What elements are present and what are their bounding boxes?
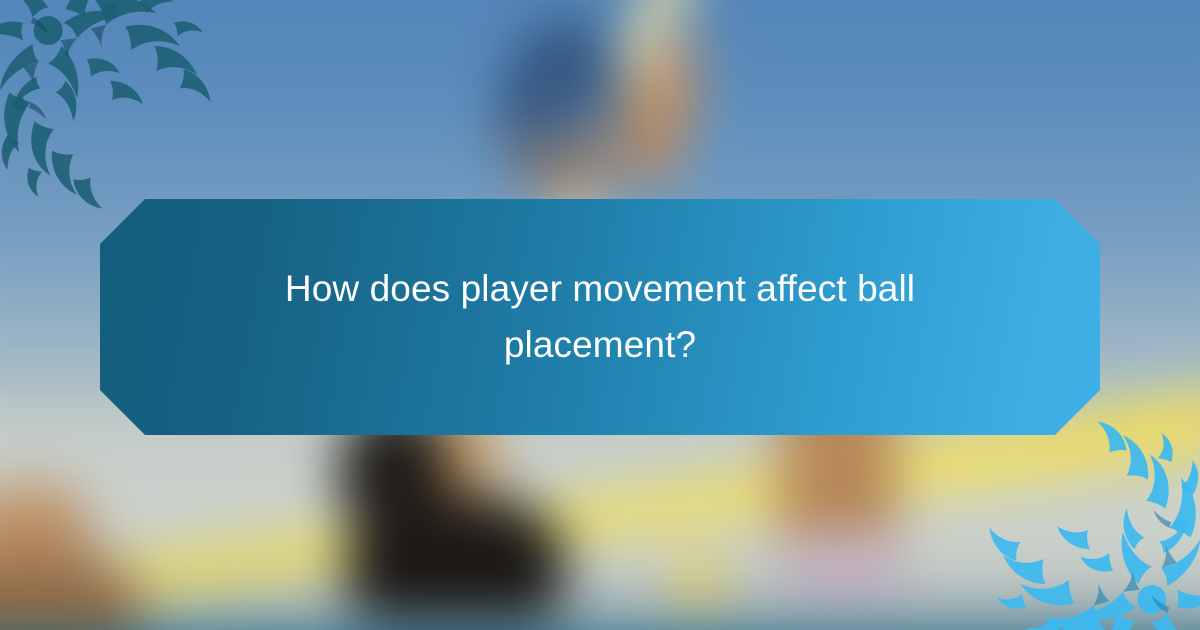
question-banner: How does player movement affect ball pla… [100, 199, 1100, 435]
question-title: How does player movement affect ball pla… [210, 261, 990, 373]
player-center-body [348, 496, 564, 616]
player-jumping-head [538, 68, 620, 146]
volleyball [670, 556, 728, 604]
player-left-body [0, 556, 140, 630]
share-card: How does player movement affect ball pla… [0, 0, 1200, 630]
player-right-shorts [782, 530, 906, 600]
